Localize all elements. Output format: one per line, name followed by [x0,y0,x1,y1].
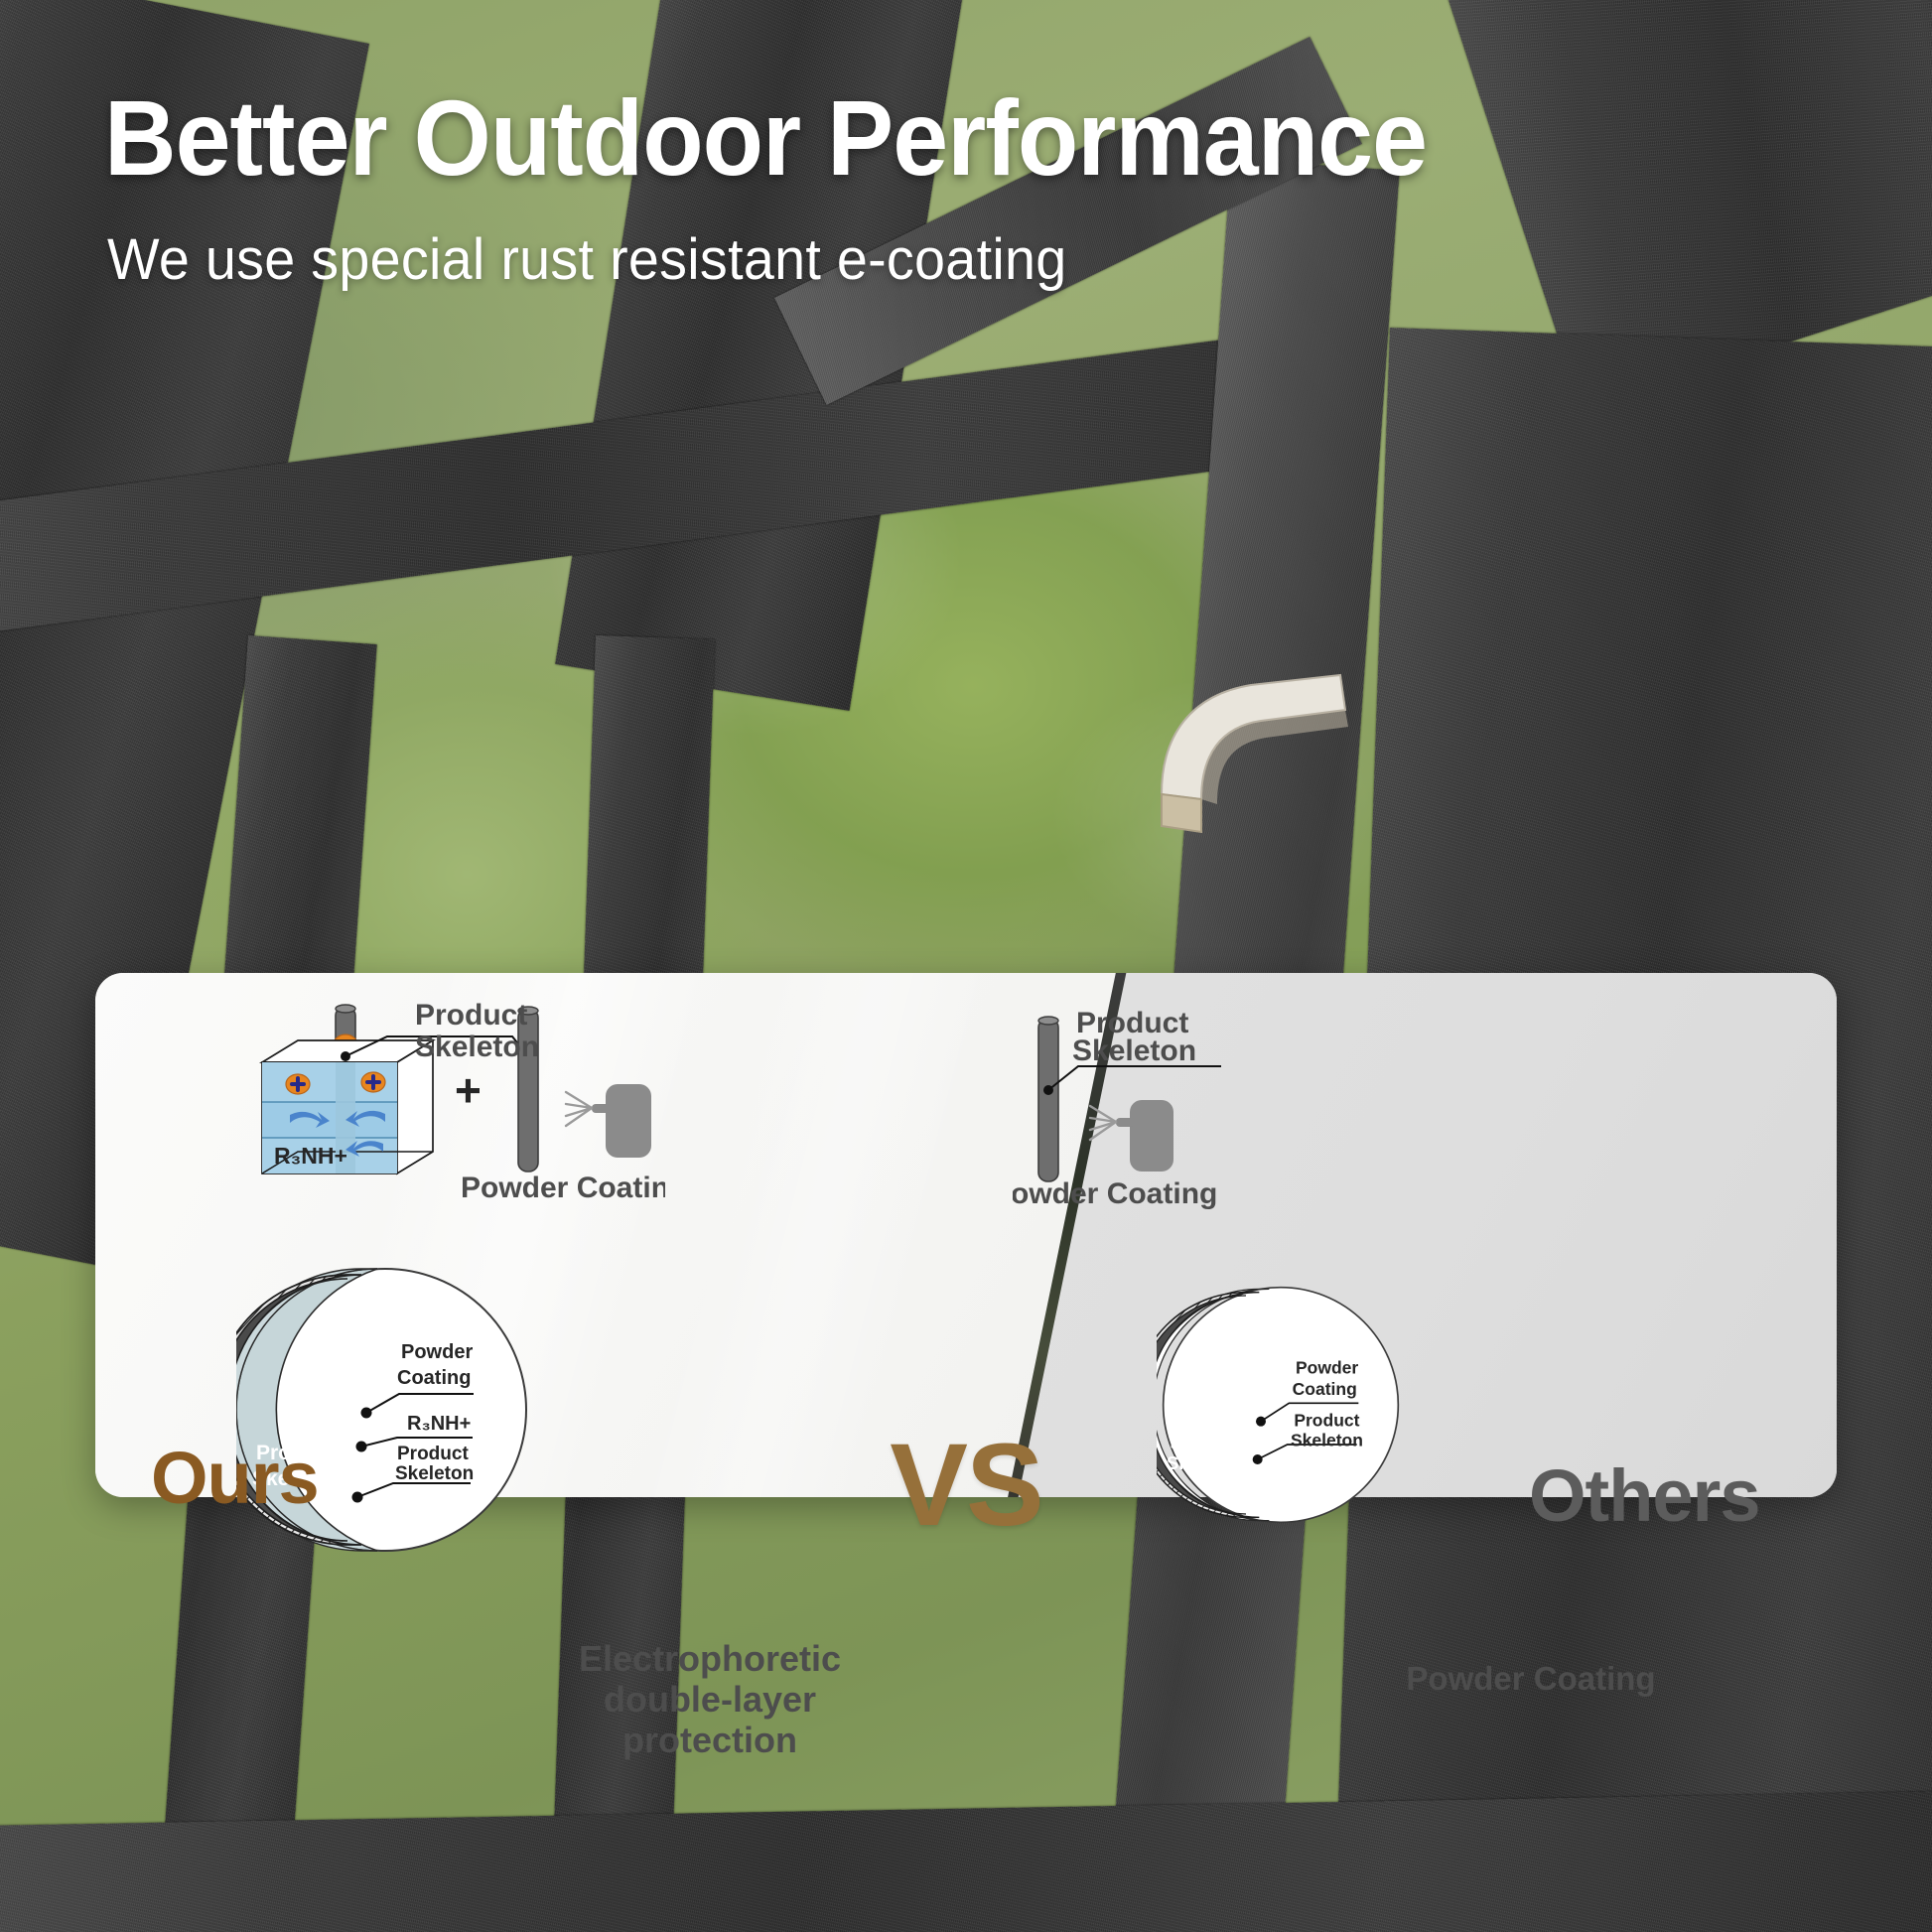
others-powder-coating-label: Powder Coating [1013,1177,1217,1209]
panel-label-others: Others [1529,1453,1760,1538]
ours-process-diagram: R₃NH+ + Product Skeleton Powder Coating [238,993,665,1206]
others-callout-powder-line2: Coating [1293,1379,1357,1399]
ours-callout-powder-line2: Coating [397,1367,471,1389]
ours-skeleton-label-line1: Product [415,999,527,1032]
others-callout-skeleton-line2: Skeleton [1291,1431,1363,1450]
caption-ours-line1: Electrophoretic [541,1638,879,1679]
ours-powder-coating-label: Powder Coating [461,1172,665,1204]
ours-callout-powder-line1: Powder [401,1341,473,1363]
wood-swatch [1132,655,1370,844]
page-title: Better Outdoor Performance [104,84,1427,192]
others-cross-section: Product Skeleton Powder Coating Product … [1157,1281,1405,1529]
others-callout-powder-line1: Powder [1296,1357,1358,1377]
others-core-label-line1: Product [1170,1431,1238,1451]
caption-ours: Electrophoretic double-layer protection [541,1638,879,1760]
page-subtitle: We use special rust resistant e-coating [107,226,1066,293]
ours-callout-skeleton-line2: Skeleton [395,1463,474,1484]
ours-callout-skeleton-line1: Product [397,1444,469,1464]
ours-callout-rnh: R₃NH+ [407,1413,471,1435]
others-process-diagram: Product Skeleton Powder Coating [1013,1001,1241,1209]
vs-label: VS [890,1418,1041,1553]
panel-label-ours: Ours [151,1436,319,1520]
ours-skeleton-label-line2: Skeleton [415,1031,539,1063]
caption-others: Powder Coating [1382,1660,1680,1698]
others-callout-skeleton-line1: Product [1294,1411,1359,1431]
others-skeleton-label-line2: Skeleton [1072,1035,1196,1067]
others-core-label-line2: Skeleton [1167,1452,1242,1473]
caption-ours-line2: double-layer protection [541,1679,879,1760]
bath-chemical-label: R₃NH+ [274,1143,347,1169]
plus-sign: + [455,1064,482,1116]
